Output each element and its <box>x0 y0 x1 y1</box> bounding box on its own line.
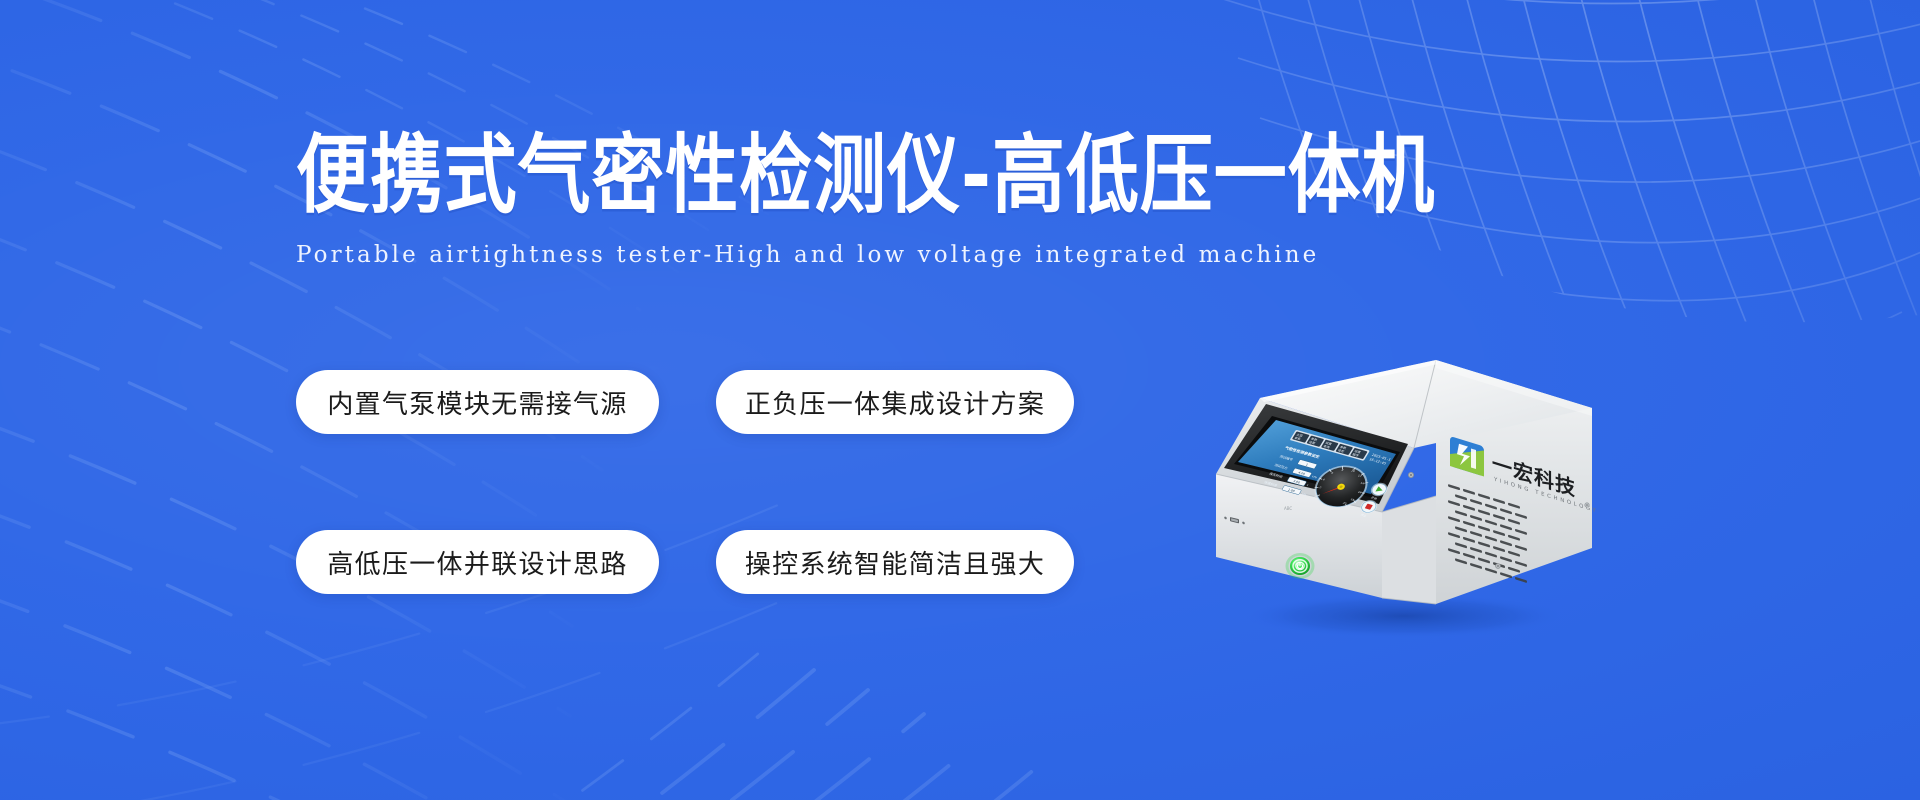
page-title: 便携式气密性检测仪-高低压一体机 <box>296 128 1380 223</box>
front-slope-label: ABC <box>1284 506 1292 511</box>
feature-pill-grid: 内置气泵模块无需接气源 正负压一体集成设计方案 高低压一体并联设计思路 操控系统… <box>296 370 1074 594</box>
feature-pill-2[interactable]: 正负压一体集成设计方案 <box>716 370 1074 434</box>
product-image: 主菜单系 参数设置 设置查询 参数设定 设置程序 2023-01-1 16:12… <box>1168 312 1608 652</box>
promo-banner: 便携式气密性检测仪-高低压一体机 Portable airtightness t… <box>0 0 1920 800</box>
chassis-front-edge <box>1382 496 1436 604</box>
power-button <box>1286 553 1315 579</box>
feature-pill-3-label: 高低压一体并联设计思路 <box>327 544 627 581</box>
feature-pill-1[interactable]: 内置气泵模块无需接气源 <box>296 370 659 434</box>
feature-pill-3[interactable]: 高低压一体并联设计思路 <box>296 530 659 594</box>
feature-pill-4[interactable]: 操控系统智能简洁且强大 <box>716 530 1074 594</box>
feature-pill-4-label: 操控系统智能简洁且强大 <box>745 544 1045 581</box>
feature-pill-1-label: 内置气泵模块无需接气源 <box>327 384 627 421</box>
headline-block: 便携式气密性检测仪-高低压一体机 Portable airtightness t… <box>296 128 1396 270</box>
page-subtitle: Portable airtightness tester-High and lo… <box>296 240 1396 270</box>
feature-pill-2-label: 正负压一体集成设计方案 <box>745 384 1045 421</box>
